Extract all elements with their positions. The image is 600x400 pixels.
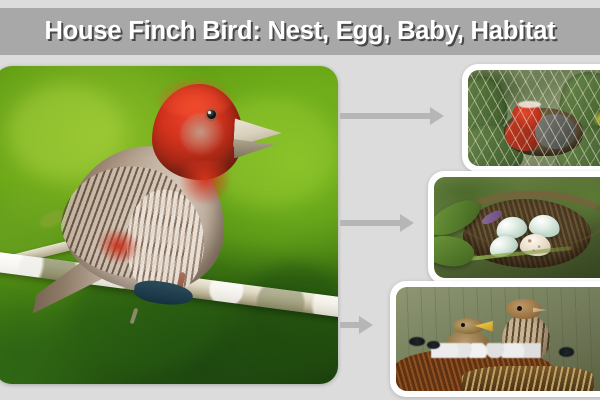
- thumbnail-baby-being-fed[interactable]: [390, 281, 600, 397]
- arrow-shaft: [340, 113, 432, 119]
- thumbnail-nest-in-cactus[interactable]: [462, 64, 600, 172]
- arrow-head: [430, 107, 444, 125]
- arrow-right-icon-to-baby: [340, 316, 373, 334]
- bird-eye: [207, 110, 216, 119]
- thumbnail-eggs-in-nest[interactable]: [428, 171, 600, 284]
- bird-lower-beak: [234, 139, 275, 158]
- arrow-head: [359, 316, 373, 334]
- thumbnail-image-area: [468, 70, 600, 166]
- thumbnail-image-area: [434, 177, 600, 278]
- page-title: House Finch Bird: Nest, Egg, Baby, Habit…: [44, 17, 555, 46]
- nest-debris: [431, 343, 541, 358]
- arrow-right-icon-to-eggs: [340, 214, 414, 232]
- title-banner: House Finch Bird: Nest, Egg, Baby, Habit…: [0, 8, 600, 55]
- arrow-shaft: [340, 220, 402, 226]
- nest-dark-debris: [559, 347, 574, 356]
- house-finch-male: [52, 79, 279, 321]
- main-image-house-finch[interactable]: [0, 66, 338, 384]
- bird-red-throat: [180, 161, 230, 205]
- baby-nest-scene: [396, 287, 600, 391]
- arrow-right-icon-to-nest: [340, 107, 444, 125]
- bird-red-crown: [157, 79, 234, 118]
- thumbnail-image-area: [396, 287, 600, 391]
- cactus-nest-scene: [468, 70, 600, 166]
- straw-nest-front: [462, 366, 594, 391]
- arrow-shaft: [340, 322, 361, 328]
- bird-cheek: [180, 113, 225, 157]
- adult-eye: [517, 306, 522, 311]
- egg-nest-scene: [434, 177, 600, 278]
- arrow-head: [400, 214, 414, 232]
- nest-dark-debris: [409, 337, 424, 346]
- cactus-spines: [468, 70, 600, 166]
- infographic-canvas: House Finch Bird: Nest, Egg, Baby, Habit…: [0, 0, 600, 400]
